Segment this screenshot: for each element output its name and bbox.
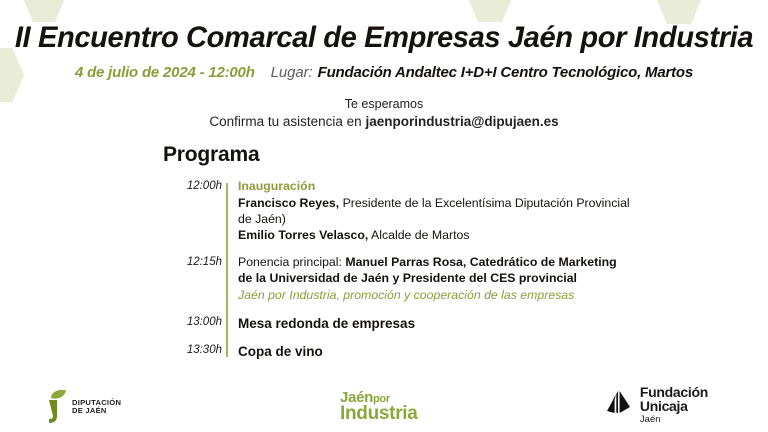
poster: II Encuentro Comarcal de Empresas Jaén p…: [0, 0, 768, 432]
schedule-time: 13:00h: [176, 315, 226, 328]
schedule-body: Ponencia principal: Manuel Parras Rosa, …: [226, 255, 633, 304]
rsvp-line: Confirma tu asistencia en jaenporindustr…: [0, 114, 768, 129]
diputacion-j-icon: [42, 390, 68, 424]
session-prefix: Ponencia principal:: [238, 255, 345, 269]
schedule-divider-rule: [226, 183, 228, 357]
schedule-item: 13:00h Mesa redonda de empresas: [176, 315, 768, 333]
event-date: 4 de julio de 2024 - 12:00h: [75, 64, 255, 81]
schedule-lead: Inauguración: [238, 179, 633, 195]
logo-jaen-por-industria: Jaénpor Industria: [340, 391, 418, 424]
unicaja-line3: Jaén: [640, 415, 708, 425]
logo-fundacion-unicaja: Fundación Unicaja Jaén: [603, 385, 708, 425]
venue-label: Lugar:: [255, 64, 313, 81]
jpi-wordmark: Jaénpor Industria: [340, 391, 418, 424]
unicaja-line2: Unicaja: [640, 399, 708, 413]
unicaja-wordmark: Fundación Unicaja Jaén: [640, 385, 708, 425]
schedule-body: Copa de vino: [226, 343, 323, 361]
schedule-time: 13:30h: [176, 343, 226, 356]
schedule-item: 13:30h Copa de vino: [176, 343, 768, 361]
rsvp-prefix: Confirma tu asistencia en: [209, 114, 365, 129]
diputacion-wordmark: DIPUTACIÓN DE JAÉN: [72, 399, 121, 415]
venue-name: Fundación Andaltec I+D+I Centro Tecnológ…: [313, 64, 693, 81]
schedule-time: 12:15h: [176, 255, 226, 268]
programa-heading: Programa: [163, 143, 768, 167]
session-subtitle: Jaén por Industria, promoción y cooperac…: [238, 288, 633, 304]
speaker-role: Alcalde de Martos: [368, 228, 469, 242]
speaker-name: Francisco Reyes,: [238, 196, 339, 210]
footer-logos: DIPUTACIÓN DE JAÉN Jaénpor Industria Fun…: [0, 372, 768, 432]
schedule-time: 12:00h: [176, 179, 226, 192]
event-subheader: 4 de julio de 2024 - 12:00h Lugar: Funda…: [0, 64, 768, 81]
schedule-list: 12:00h Inauguración Francisco Reyes, Pre…: [0, 179, 768, 361]
rsvp-email[interactable]: jaenporindustria@dipujaen.es: [365, 114, 558, 129]
unicaja-fan-icon: [603, 389, 633, 419]
jpi-line2: Industria: [340, 405, 418, 424]
logo-diputacion-jaen: DIPUTACIÓN DE JAÉN: [42, 390, 121, 424]
invitation-block: Te esperamos Confirma tu asistencia en j…: [0, 97, 768, 129]
unicaja-line1: Fundación: [640, 385, 708, 399]
schedule-body: Mesa redonda de empresas: [226, 315, 415, 333]
schedule-item: 12:15h Ponencia principal: Manuel Parras…: [176, 255, 768, 304]
schedule-item: 12:00h Inauguración Francisco Reyes, Pre…: [176, 179, 768, 244]
speaker-name: Emilio Torres Velasco,: [238, 228, 368, 242]
page-title: II Encuentro Comarcal de Empresas Jaén p…: [12, 0, 757, 55]
invitation-greeting: Te esperamos: [0, 97, 768, 111]
diputacion-line2: DE JAÉN: [72, 407, 121, 415]
schedule-body: Inauguración Francisco Reyes, Presidente…: [226, 179, 633, 244]
